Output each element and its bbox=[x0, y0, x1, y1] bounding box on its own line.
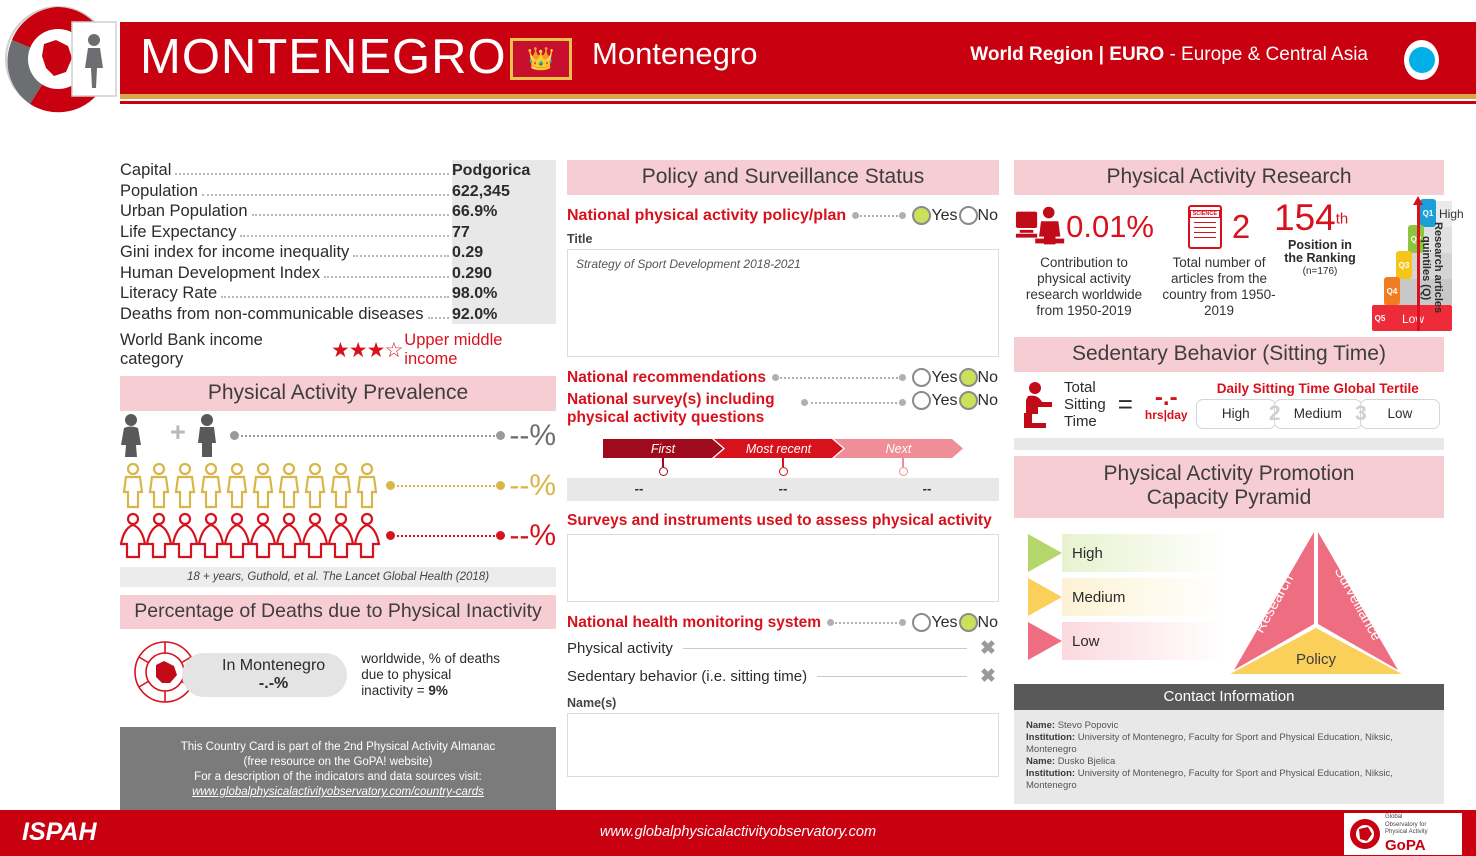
stat-value: Podgorica bbox=[452, 161, 556, 182]
tertile-low[interactable]: Low bbox=[1360, 399, 1440, 429]
contact-name-row: Name: Stevo Popovic bbox=[1026, 720, 1432, 732]
sedentary-panel-body: Total Sitting Time = -.- hrs|day Daily S… bbox=[1014, 372, 1444, 436]
legend-label-low: Low bbox=[1072, 633, 1100, 650]
income-rating-stars-icon: ★★★☆ bbox=[331, 338, 402, 363]
monitoring-row: National health monitoring system Yes No bbox=[567, 613, 999, 632]
leader-dots bbox=[240, 235, 449, 237]
leader-dots bbox=[852, 212, 906, 220]
timeline-item-first: First bbox=[603, 439, 723, 476]
research-contribution-caption: Contribution to physical activity resear… bbox=[1014, 255, 1154, 319]
leader-dots bbox=[801, 399, 906, 407]
timeline-marker bbox=[659, 467, 668, 476]
timeline-chevron-most-recent: Most recent bbox=[714, 439, 843, 458]
leader-dots bbox=[324, 276, 449, 278]
science-badge-label: SCIENCE bbox=[1190, 210, 1220, 218]
contact-panel-body: Name: Stevo Popovic Institution: Univers… bbox=[1014, 710, 1444, 804]
sedentary-value: -.- bbox=[1145, 388, 1188, 408]
tertile-number-3: 3 bbox=[1355, 402, 1367, 426]
research-panel-title: Physical Activity Research bbox=[1014, 160, 1444, 195]
instruments-textbox[interactable] bbox=[567, 534, 999, 602]
stat-label: Human Development Index bbox=[120, 263, 320, 284]
gopa-logo-mark: GoPA bbox=[1385, 837, 1428, 854]
footnote-line3: For a description of the indicators and … bbox=[126, 770, 550, 785]
timeline-stem bbox=[902, 458, 904, 467]
world-bank-label: World Bank income category bbox=[120, 331, 325, 369]
researchers-icon bbox=[1014, 205, 1066, 249]
table-row: Population 622,345 bbox=[120, 181, 556, 202]
monitoring-yes-radio[interactable] bbox=[912, 613, 931, 632]
country-name-uppercase: MONTENEGRO bbox=[140, 26, 507, 88]
sedentary-label-line1: Total bbox=[1064, 379, 1106, 396]
names-field-label: Name(s) bbox=[567, 696, 999, 710]
legend-label-high: High bbox=[1072, 545, 1103, 562]
sedentary-label: Total Sitting Time bbox=[1064, 379, 1106, 430]
leader-dots bbox=[175, 173, 449, 175]
connector-line bbox=[236, 435, 500, 437]
sedentary-panel-title: Sedentary Behavior (Sitting Time) bbox=[1014, 337, 1444, 372]
region-indicator-icon bbox=[1404, 40, 1439, 80]
contact-institution-row: Institution: University of Montenegro, F… bbox=[1026, 768, 1432, 792]
policy-plan-no-radio[interactable] bbox=[959, 206, 978, 225]
total-figures-icon bbox=[120, 413, 164, 459]
flag-eagle-emblem: 👑 bbox=[527, 48, 554, 70]
policy-title-textbox[interactable]: Strategy of Sport Development 2018-2021 bbox=[567, 249, 999, 357]
stat-value: 0.29 bbox=[452, 243, 556, 264]
stat-label: Population bbox=[120, 181, 198, 202]
table-row: Urban Population 66.9% bbox=[120, 201, 556, 222]
recommendations-no-label[interactable]: No bbox=[978, 369, 998, 387]
stat-value: 66.9% bbox=[452, 202, 556, 223]
instruments-label: Surveys and instruments used to assess p… bbox=[567, 512, 999, 530]
timeline-marker bbox=[899, 467, 908, 476]
tertile-block: Daily Sitting Time Global Tertile High 2… bbox=[1196, 381, 1440, 429]
timeline-stem bbox=[782, 458, 784, 467]
table-row: Human Development Index 0.290 bbox=[120, 263, 556, 284]
world-region-label: World Region | EURO - Europe & Central A… bbox=[970, 44, 1368, 66]
recommendations-no-radio[interactable] bbox=[959, 368, 978, 387]
deaths-pill-label: In Montenegro bbox=[222, 657, 325, 675]
research-ranking-cell: 154th Position in the Ranking (n=176) Q1… bbox=[1284, 201, 1444, 333]
equals-sign: = bbox=[1118, 389, 1133, 420]
stat-value: 0.290 bbox=[452, 264, 556, 285]
capacity-pyramid-diagram: Research Surveillance Policy bbox=[1226, 528, 1406, 676]
surveys-no-radio[interactable] bbox=[959, 391, 978, 410]
sitting-person-icon bbox=[1018, 380, 1058, 430]
connector-dot-end bbox=[496, 431, 505, 440]
monitoring-radio-group[interactable]: Yes No bbox=[912, 613, 999, 632]
survey-timeline-chevrons: First Most recent Next bbox=[603, 439, 963, 476]
gopa-logo bbox=[0, 0, 120, 118]
research-articles-value: 2 bbox=[1232, 208, 1250, 246]
leader-dots bbox=[353, 255, 449, 257]
names-value bbox=[568, 714, 998, 728]
recommendations-row: National recommendations Yes No bbox=[567, 368, 999, 387]
contact-institution: University of Montenegro, Faculty for Sp… bbox=[1026, 768, 1393, 791]
pyramid-legend: High Medium Low bbox=[1014, 528, 1226, 676]
recommendations-yes-radio[interactable] bbox=[912, 368, 931, 387]
stat-value: 622,345 bbox=[452, 182, 556, 203]
deaths-note-line3: inactivity = 9% bbox=[361, 683, 500, 699]
world-region-suffix: - Europe & Central Asia bbox=[1164, 44, 1368, 65]
country-flag-icon: 👑 bbox=[510, 38, 572, 80]
names-textbox[interactable] bbox=[567, 713, 999, 777]
policy-plan-yes-radio[interactable] bbox=[912, 206, 931, 225]
footnote-line1: This Country Card is part of the 2nd Phy… bbox=[126, 740, 550, 755]
timeline-value-next: -- bbox=[855, 478, 999, 501]
pyramid-panel-title: Physical Activity Promotion Capacity Pyr… bbox=[1014, 456, 1444, 518]
stat-label: Capital bbox=[120, 160, 171, 181]
recommendations-yes-label[interactable]: Yes bbox=[931, 369, 957, 387]
row-rule bbox=[817, 676, 967, 677]
monitoring-sedentary-row: Sedentary behavior (i.e. sitting time) ✖ bbox=[567, 665, 999, 688]
sedentary-unit: hrs|day bbox=[1145, 408, 1188, 422]
monitoring-label: National health monitoring system bbox=[567, 614, 821, 632]
timeline-item-next: Next bbox=[843, 439, 963, 476]
contact-institution-label: Institution: bbox=[1026, 732, 1075, 743]
page-footer: ISPAH www.globalphysicalactivityobservat… bbox=[0, 810, 1476, 856]
table-row: Gini index for income inequality 0.29 bbox=[120, 242, 556, 263]
monitoring-row-label: Physical activity bbox=[567, 640, 673, 657]
contact-name-row: Name: Dusko Bjelica bbox=[1026, 756, 1432, 768]
male-figure-icon bbox=[192, 413, 226, 459]
female-figures-group-icon bbox=[120, 512, 382, 560]
survey-timeline-values: -- -- -- bbox=[567, 478, 999, 501]
policy-title-field-label: Title bbox=[567, 232, 999, 246]
footer-url[interactable]: www.globalphysicalactivityobservatory.co… bbox=[0, 824, 1476, 840]
tertile-high[interactable]: High bbox=[1196, 399, 1276, 429]
research-articles-cell: SCIENCE 2 Total number of articles from … bbox=[1154, 201, 1284, 319]
contact-entry: Name: Stevo Popovic Institution: Univers… bbox=[1026, 720, 1432, 756]
header-white-stripe-2 bbox=[120, 104, 1476, 106]
prevalence-value-total: --% bbox=[509, 419, 556, 453]
policy-plan-row: National physical activity policy/plan Y… bbox=[567, 206, 999, 225]
right-column: Physical Activity Research 0.01% Contrib… bbox=[1014, 160, 1444, 804]
leader-dots bbox=[827, 619, 906, 627]
surveys-yes-label[interactable]: Yes bbox=[931, 392, 957, 410]
rank-value: 154 bbox=[1274, 197, 1336, 238]
prevalence-row-male: --% bbox=[120, 461, 556, 511]
contact-institution: University of Montenegro, Faculty for Sp… bbox=[1026, 732, 1393, 755]
timeline-chevron-next: Next bbox=[834, 439, 963, 458]
stat-label: Urban Population bbox=[120, 201, 248, 222]
sedentary-footer-bar bbox=[1014, 438, 1444, 450]
stat-label: Gini index for income inequality bbox=[120, 242, 349, 263]
tertile-number-2: 2 bbox=[1269, 402, 1281, 426]
monitoring-physical-activity-row: Physical activity ✖ bbox=[567, 637, 999, 660]
monitoring-row-label: Sedentary behavior (i.e. sitting time) bbox=[567, 668, 807, 685]
page-header: MONTENEGRO 👑 Montenegro World Region | E… bbox=[0, 0, 1476, 118]
legend-item-high: High bbox=[1028, 534, 1226, 572]
table-row: Life Expectancy 77 bbox=[120, 222, 556, 243]
surveys-no-label[interactable]: No bbox=[978, 392, 998, 410]
country-stats-table: Capital Podgorica Population 622,345 Urb… bbox=[120, 160, 556, 324]
stat-value: 77 bbox=[452, 223, 556, 244]
sedentary-value-block: -.- hrs|day bbox=[1145, 388, 1188, 422]
science-document-icon: SCIENCE bbox=[1188, 205, 1222, 249]
connector-dot-end bbox=[496, 531, 505, 540]
middle-column: Policy and Surveillance Status National … bbox=[567, 160, 999, 777]
timeline-item-most-recent: Most recent bbox=[723, 439, 843, 476]
cross-icon: ✖ bbox=[977, 637, 999, 660]
instruments-value bbox=[568, 535, 998, 549]
policy-plan-yes-label[interactable]: Yes bbox=[931, 207, 957, 225]
male-figures-group-icon bbox=[120, 462, 382, 510]
contact-institution-label: Institution: bbox=[1026, 768, 1075, 779]
prevalence-value-male: --% bbox=[509, 469, 556, 503]
prevalence-panel-title: Physical Activity Prevalence bbox=[120, 376, 556, 411]
leader-dots bbox=[428, 317, 449, 319]
policy-plan-label: National physical activity policy/plan bbox=[567, 207, 846, 225]
row-rule bbox=[683, 648, 967, 649]
timeline-chevron-first: First bbox=[603, 439, 723, 458]
table-row: Literacy Rate 98.0% bbox=[120, 283, 556, 304]
research-contribution-cell: 0.01% Contribution to physical activity … bbox=[1014, 201, 1154, 319]
plus-sign-icon: + bbox=[170, 417, 186, 448]
deaths-note-prefix: inactivity = bbox=[361, 683, 428, 698]
stat-label: Literacy Rate bbox=[120, 283, 217, 304]
pyramid-title-line2: Capacity Pyramid bbox=[1014, 486, 1444, 510]
cross-icon: ✖ bbox=[977, 665, 999, 688]
footnote-link[interactable]: www.globalphysicalactivityobservatory.co… bbox=[192, 786, 484, 798]
deaths-worldwide-value: 9% bbox=[428, 683, 448, 698]
stat-label: Life Expectancy bbox=[120, 222, 236, 243]
contact-name: Stevo Popovic bbox=[1058, 720, 1119, 731]
tertile-row: High 2 Medium 3 Low bbox=[1196, 399, 1440, 429]
tertile-title: Daily Sitting Time Global Tertile bbox=[1196, 381, 1440, 396]
deaths-pill-value: -.-% bbox=[259, 675, 288, 693]
policy-plan-no-label[interactable]: No bbox=[978, 207, 998, 225]
world-bank-category: Upper middle income bbox=[404, 331, 556, 369]
policy-title-value: Strategy of Sport Development 2018-2021 bbox=[568, 250, 998, 278]
prevalence-row-female: --% bbox=[120, 511, 556, 561]
left-column: Capital Podgorica Population 622,345 Urb… bbox=[120, 160, 556, 813]
timeline-marker bbox=[779, 467, 788, 476]
contact-name-label: Name: bbox=[1026, 720, 1055, 731]
prevalence-source-note: 18 + years, Guthold, et al. The Lancet G… bbox=[120, 567, 556, 587]
table-row: Deaths from non-communicable diseases 92… bbox=[120, 304, 556, 325]
surveys-row: National survey(s) including physical ac… bbox=[567, 391, 999, 427]
quintile-marker-q3: Q3 bbox=[1396, 251, 1412, 279]
deaths-value-pill: In Montenegro -.-% bbox=[182, 653, 347, 697]
timeline-stem bbox=[662, 458, 664, 467]
pyramid-side-policy: Policy bbox=[1296, 651, 1337, 668]
deaths-note-line2: due to physical bbox=[361, 667, 500, 683]
country-name: Montenegro bbox=[592, 36, 757, 72]
quintile-axis-label: Research articles quintiles (Q) bbox=[1420, 205, 1444, 331]
deaths-note-line1: worldwide, % of deaths bbox=[361, 651, 500, 667]
sedentary-label-line3: Time bbox=[1064, 413, 1106, 430]
surveys-label: National survey(s) including physical ac… bbox=[567, 391, 795, 427]
world-region-prefix: World Region | EURO bbox=[970, 44, 1164, 65]
sedentary-label-line2: Sitting bbox=[1064, 396, 1106, 413]
stat-label: Deaths from non-communicable diseases bbox=[120, 304, 424, 325]
research-articles-top: SCIENCE 2 bbox=[1154, 201, 1284, 253]
stat-value: 98.0% bbox=[452, 284, 556, 305]
monitoring-no-radio[interactable] bbox=[959, 613, 978, 632]
timeline-value-most-recent: -- bbox=[711, 478, 855, 501]
leader-dots bbox=[221, 296, 449, 298]
pyramid-title-line1: Physical Activity Promotion bbox=[1014, 462, 1444, 486]
surveys-radio-group[interactable]: Yes No bbox=[912, 391, 999, 410]
monitoring-yes-label[interactable]: Yes bbox=[931, 614, 957, 632]
connector-dot-end bbox=[496, 481, 505, 490]
contact-name: Dusko Bjelica bbox=[1058, 756, 1116, 767]
pyramid-panel-body: High Medium Low Research Surveillance Po… bbox=[1014, 518, 1444, 676]
prevalence-value-female: --% bbox=[509, 519, 556, 553]
research-contribution-value: 0.01% bbox=[1066, 209, 1154, 245]
female-value-connector bbox=[386, 531, 505, 541]
almanac-footnote: This Country Card is part of the 2nd Phy… bbox=[120, 727, 556, 813]
gopa-logo-line3: Physical Activity bbox=[1385, 829, 1428, 837]
research-panel-body: 0.01% Contribution to physical activity … bbox=[1014, 195, 1444, 333]
prevalence-row-total: + --% bbox=[120, 411, 556, 461]
gopa-logo-line1: Global bbox=[1385, 814, 1428, 822]
contact-name-label: Name: bbox=[1026, 756, 1055, 767]
total-value-connector bbox=[230, 431, 506, 441]
region-indicator-dot bbox=[1409, 47, 1435, 73]
connector-line bbox=[392, 535, 499, 537]
male-value-connector bbox=[386, 481, 505, 491]
recommendations-label: National recommendations bbox=[567, 369, 766, 387]
leader-dots bbox=[202, 194, 449, 196]
contact-entry: Name: Dusko Bjelica Institution: Univers… bbox=[1026, 756, 1432, 792]
policy-panel-title: Policy and Surveillance Status bbox=[567, 160, 999, 195]
gopa-logo-line2: Observatory for bbox=[1385, 822, 1428, 830]
world-bank-income-row: World Bank income category ★★★☆ Upper mi… bbox=[120, 331, 556, 369]
rank-value-block: 154th bbox=[1274, 197, 1348, 239]
recommendations-radio-group[interactable]: Yes No bbox=[912, 368, 999, 387]
survey-timeline: First Most recent Next bbox=[567, 439, 999, 476]
quintile-marker-q5: Q5 bbox=[1372, 305, 1388, 331]
monitoring-no-label[interactable]: No bbox=[978, 614, 998, 632]
connector-line bbox=[392, 485, 499, 487]
footnote-line2: (free resource on the GoPA! website) bbox=[126, 755, 550, 770]
contact-institution-row: Institution: University of Montenegro, F… bbox=[1026, 732, 1432, 756]
legend-label-medium: Medium bbox=[1072, 589, 1125, 606]
surveys-yes-radio[interactable] bbox=[912, 391, 931, 410]
leader-dots bbox=[252, 214, 449, 216]
gopa-footer-logo: Global Observatory for Physical Activity… bbox=[1344, 813, 1462, 855]
timeline-value-first: -- bbox=[567, 478, 711, 501]
deaths-panel-title: Percentage of Deaths due to Physical Ina… bbox=[120, 595, 556, 629]
research-articles-caption: Total number of articles from the countr… bbox=[1154, 255, 1284, 319]
deaths-worldwide-note: worldwide, % of deaths due to physical i… bbox=[361, 651, 500, 699]
deaths-panel-body: In Montenegro -.-% worldwide, % of death… bbox=[120, 629, 556, 718]
legend-item-medium: Medium bbox=[1028, 578, 1226, 616]
stat-value: 92.0% bbox=[452, 305, 556, 326]
research-contribution-top: 0.01% bbox=[1014, 201, 1154, 253]
quintile-marker-q4: Q4 bbox=[1384, 277, 1400, 305]
policy-plan-radio-group[interactable]: Yes No bbox=[912, 206, 999, 225]
legend-item-low: Low bbox=[1028, 622, 1226, 660]
leader-dots bbox=[772, 374, 906, 382]
table-row: Capital Podgorica bbox=[120, 160, 556, 181]
tertile-medium[interactable]: Medium bbox=[1274, 399, 1362, 429]
contact-panel-title: Contact Information bbox=[1014, 684, 1444, 710]
